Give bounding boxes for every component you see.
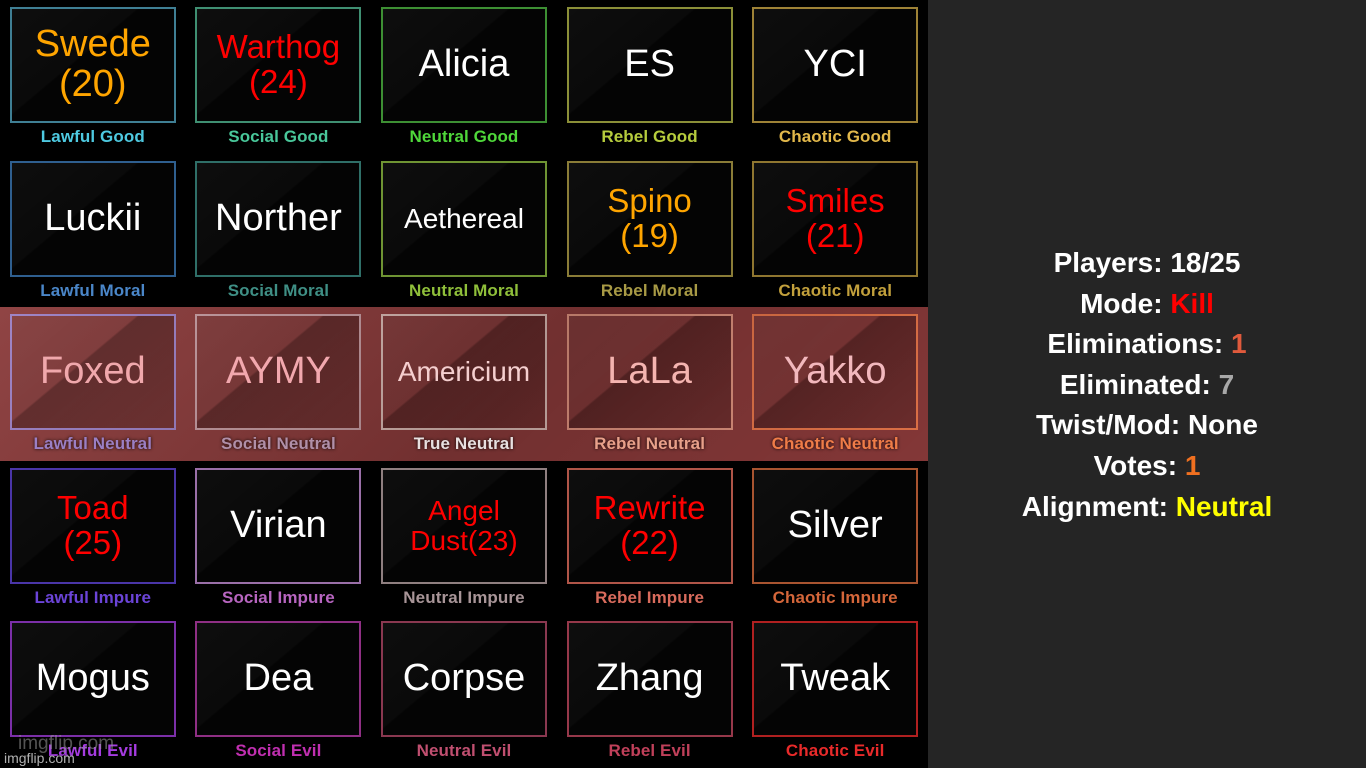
stat-line-eliminations: Eliminations: 1 [928, 324, 1366, 365]
alignment-row-evil: MogusLawful EvilDeaSocial EvilCorpseNeut… [0, 614, 928, 768]
stat-line-players: Players: 18/25 [928, 243, 1366, 284]
alignment-label: Neutral Moral [409, 281, 519, 301]
cell-box[interactable]: Mogus [10, 621, 176, 737]
cell-box[interactable]: Smiles(21) [752, 161, 918, 277]
cell-box[interactable]: Corpse [381, 621, 547, 737]
alignment-label: Social Good [228, 127, 328, 147]
stat-key: Eliminations: [1047, 328, 1223, 359]
player-name: YCI [800, 45, 869, 85]
stat-value: 7 [1219, 369, 1235, 400]
alignment-cell-social-evil[interactable]: DeaSocial Evil [186, 614, 372, 768]
stat-spacer [1223, 328, 1231, 359]
alignment-label: Lawful Moral [40, 281, 145, 301]
player-name: Smiles(21) [783, 184, 888, 253]
cell-box[interactable]: Luckii [10, 161, 176, 277]
cell-box[interactable]: Toad(25) [10, 468, 176, 584]
cell-box[interactable]: Alicia [381, 7, 547, 123]
alignment-label: Rebel Impure [595, 588, 704, 608]
stat-line-twist-mod: Twist/Mod: None [928, 405, 1366, 446]
stat-key: Votes: [1094, 450, 1178, 481]
alignment-row-impure: Toad(25)Lawful ImpureVirianSocial Impure… [0, 461, 928, 615]
cell-box[interactable]: Americium [381, 314, 547, 430]
alignment-label: Lawful Neutral [34, 434, 153, 454]
cell-box[interactable]: Zhang [567, 621, 733, 737]
stat-spacer [1168, 491, 1176, 522]
stat-value: 1 [1231, 328, 1247, 359]
stat-key: Eliminated: [1060, 369, 1211, 400]
alignment-label: True Neutral [414, 434, 514, 454]
alignment-cell-chaotic-evil[interactable]: TweakChaotic Evil [742, 614, 928, 768]
player-name: Tweak [777, 659, 893, 699]
player-name: AYMY [223, 352, 334, 392]
cell-box[interactable]: YCI [752, 7, 918, 123]
player-name: Virian [227, 506, 329, 546]
cell-box[interactable]: Swede(20) [10, 7, 176, 123]
alignment-cell-chaotic-neutral[interactable]: YakkoChaotic Neutral [742, 307, 928, 461]
player-name: Rewrite(22) [591, 491, 709, 560]
player-name: Swede(20) [32, 25, 154, 105]
stat-key: Twist/Mod: [1036, 409, 1180, 440]
alignment-cell-neutral-evil[interactable]: CorpseNeutral Evil [371, 614, 557, 768]
stat-value: 1 [1185, 450, 1201, 481]
alignment-cell-true-neutral[interactable]: AmericiumTrue Neutral [371, 307, 557, 461]
stat-value: 18/25 [1170, 247, 1240, 278]
player-name: Americium [395, 357, 533, 386]
cell-box[interactable]: ES [567, 7, 733, 123]
player-name: Foxed [37, 352, 149, 392]
cell-box[interactable]: Spino(19) [567, 161, 733, 277]
alignment-cell-lawful-good[interactable]: Swede(20)Lawful Good [0, 0, 186, 154]
cell-box[interactable]: Tweak [752, 621, 918, 737]
player-name: Zhang [593, 659, 707, 699]
player-name: Mogus [33, 659, 153, 699]
alignment-cell-social-good[interactable]: Warthog(24)Social Good [186, 0, 372, 154]
alignment-label: Social Neutral [221, 434, 336, 454]
stat-spacer [1211, 369, 1219, 400]
alignment-cell-rebel-evil[interactable]: ZhangRebel Evil [557, 614, 743, 768]
alignment-label: Social Moral [228, 281, 329, 301]
alignment-row-moral: LuckiiLawful MoralNortherSocial MoralAet… [0, 154, 928, 308]
player-name: Alicia [416, 45, 513, 85]
cell-box[interactable]: Aethereal [381, 161, 547, 277]
alignment-row-good: Swede(20)Lawful GoodWarthog(24)Social Go… [0, 0, 928, 154]
cell-box[interactable]: Norther [195, 161, 361, 277]
player-name: Toad(25) [54, 491, 132, 560]
player-name: Luckii [41, 199, 144, 239]
alignment-label: Chaotic Neutral [772, 434, 899, 454]
cell-box[interactable]: Dea [195, 621, 361, 737]
alignment-cell-lawful-moral[interactable]: LuckiiLawful Moral [0, 154, 186, 308]
alignment-cell-social-neutral[interactable]: AYMYSocial Neutral [186, 307, 372, 461]
player-name: Dea [241, 659, 317, 699]
cell-box[interactable]: Warthog(24) [195, 7, 361, 123]
alignment-label: Social Evil [235, 741, 321, 761]
alignment-cell-neutral-moral[interactable]: AetherealNeutral Moral [371, 154, 557, 308]
player-name: ES [621, 45, 678, 85]
stat-key: Mode: [1080, 288, 1162, 319]
player-name: Spino(19) [604, 184, 694, 253]
player-name: AngelDust(23) [407, 496, 520, 555]
watermark: imgflip.com [4, 750, 75, 766]
stat-key: Players: [1054, 247, 1163, 278]
alignment-cell-chaotic-good[interactable]: YCIChaotic Good [742, 0, 928, 154]
stat-spacer [1177, 450, 1185, 481]
alignment-label: Chaotic Moral [778, 281, 892, 301]
alignment-label: Chaotic Evil [786, 741, 885, 761]
alignment-label: Chaotic Impure [773, 588, 898, 608]
alignment-cell-rebel-neutral[interactable]: LaLaRebel Neutral [557, 307, 743, 461]
alignment-label: Lawful Impure [35, 588, 152, 608]
stat-spacer [1180, 409, 1188, 440]
stat-line-alignment: Alignment: Neutral [928, 487, 1366, 528]
cell-box[interactable]: Rewrite(22) [567, 468, 733, 584]
stat-key: Alignment: [1022, 491, 1168, 522]
cell-box[interactable]: AngelDust(23) [381, 468, 547, 584]
alignment-label: Rebel Moral [601, 281, 698, 301]
player-name: Warthog(24) [214, 30, 344, 99]
player-name: Yakko [781, 352, 890, 392]
alignment-label: Neutral Good [410, 127, 519, 147]
cell-box[interactable]: Foxed [10, 314, 176, 430]
player-name: Norther [212, 199, 345, 239]
alignment-cell-chaotic-impure[interactable]: SilverChaotic Impure [742, 461, 928, 615]
alignment-label: Neutral Evil [417, 741, 512, 761]
cell-box[interactable]: Silver [752, 468, 918, 584]
cell-box[interactable]: Virian [195, 468, 361, 584]
alignment-cell-rebel-good[interactable]: ESRebel Good [557, 0, 743, 154]
stat-line-mode: Mode: Kill [928, 284, 1366, 325]
meme-canvas: Swede(20)Lawful GoodWarthog(24)Social Go… [0, 0, 1366, 768]
stat-value: Neutral [1176, 491, 1272, 522]
alignment-cell-lawful-impure[interactable]: Toad(25)Lawful Impure [0, 461, 186, 615]
stats-panel: Players: 18/25Mode: KillEliminations: 1E… [928, 0, 1366, 768]
stat-value: None [1188, 409, 1258, 440]
alignment-cell-rebel-impure[interactable]: Rewrite(22)Rebel Impure [557, 461, 743, 615]
alignment-cell-neutral-impure[interactable]: AngelDust(23)Neutral Impure [371, 461, 557, 615]
stat-line-eliminated: Eliminated: 7 [928, 365, 1366, 406]
cell-box[interactable]: LaLa [567, 314, 733, 430]
player-name: Aethereal [401, 204, 527, 233]
alignment-label: Neutral Impure [403, 588, 524, 608]
player-name: Silver [785, 506, 886, 546]
stat-value: Kill [1170, 288, 1214, 319]
alignment-label: Chaotic Good [779, 127, 892, 147]
alignment-label: Rebel Evil [608, 741, 690, 761]
alignment-cell-lawful-neutral[interactable]: FoxedLawful Neutral [0, 307, 186, 461]
alignment-row-neutral: FoxedLawful NeutralAYMYSocial NeutralAme… [0, 307, 928, 461]
alignment-label: Rebel Good [601, 127, 697, 147]
alignment-cell-neutral-good[interactable]: AliciaNeutral Good [371, 0, 557, 154]
alignment-cell-rebel-moral[interactable]: Spino(19)Rebel Moral [557, 154, 743, 308]
alignment-grid: Swede(20)Lawful GoodWarthog(24)Social Go… [0, 0, 928, 768]
player-name: LaLa [604, 352, 695, 392]
alignment-label: Social Impure [222, 588, 335, 608]
alignment-cell-chaotic-moral[interactable]: Smiles(21)Chaotic Moral [742, 154, 928, 308]
cell-box[interactable]: AYMY [195, 314, 361, 430]
alignment-cell-social-impure[interactable]: VirianSocial Impure [186, 461, 372, 615]
stat-line-votes: Votes: 1 [928, 446, 1366, 487]
alignment-cell-social-moral[interactable]: NortherSocial Moral [186, 154, 372, 308]
alignment-label: Rebel Neutral [594, 434, 705, 454]
alignment-label: Lawful Good [41, 127, 145, 147]
cell-box[interactable]: Yakko [752, 314, 918, 430]
player-name: Corpse [400, 659, 529, 699]
